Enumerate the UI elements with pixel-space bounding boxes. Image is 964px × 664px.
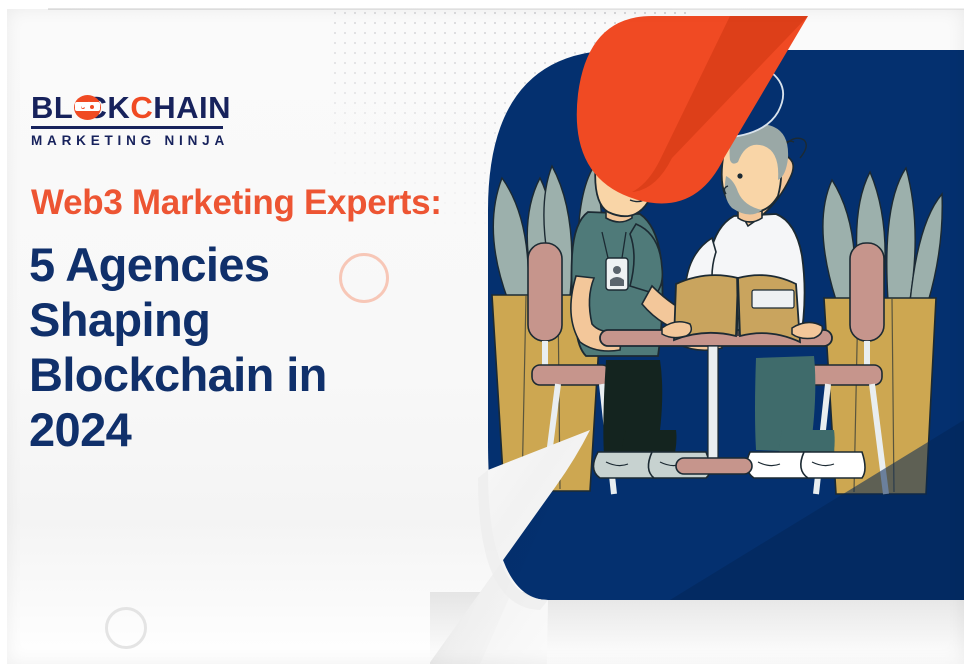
logo-text-hain: HAIN (153, 92, 231, 123)
logo-text-bl: BL (31, 92, 73, 123)
logo-chain-link-c: C (130, 92, 153, 123)
top-rule (48, 8, 964, 10)
page-title: 5 Agencies Shaping Blockchain in 2024 (29, 238, 429, 458)
gray-ring-decoration (105, 607, 147, 649)
illustration-artwork (430, 0, 964, 664)
logo-wordmark: BL CK C HAIN (31, 92, 231, 123)
brand-logo[interactable]: BL CK C HAIN MARKETING NINJA (31, 92, 231, 148)
kicker-text: Web3 Marketing Experts: (31, 183, 442, 223)
ninja-mask-icon (74, 94, 83, 121)
poster-canvas: BL CK C HAIN MARKETING NINJA Web3 Market… (0, 0, 964, 664)
logo-divider (31, 126, 223, 129)
logo-tagline: MARKETING NINJA (31, 133, 231, 148)
left-margin (0, 0, 7, 664)
